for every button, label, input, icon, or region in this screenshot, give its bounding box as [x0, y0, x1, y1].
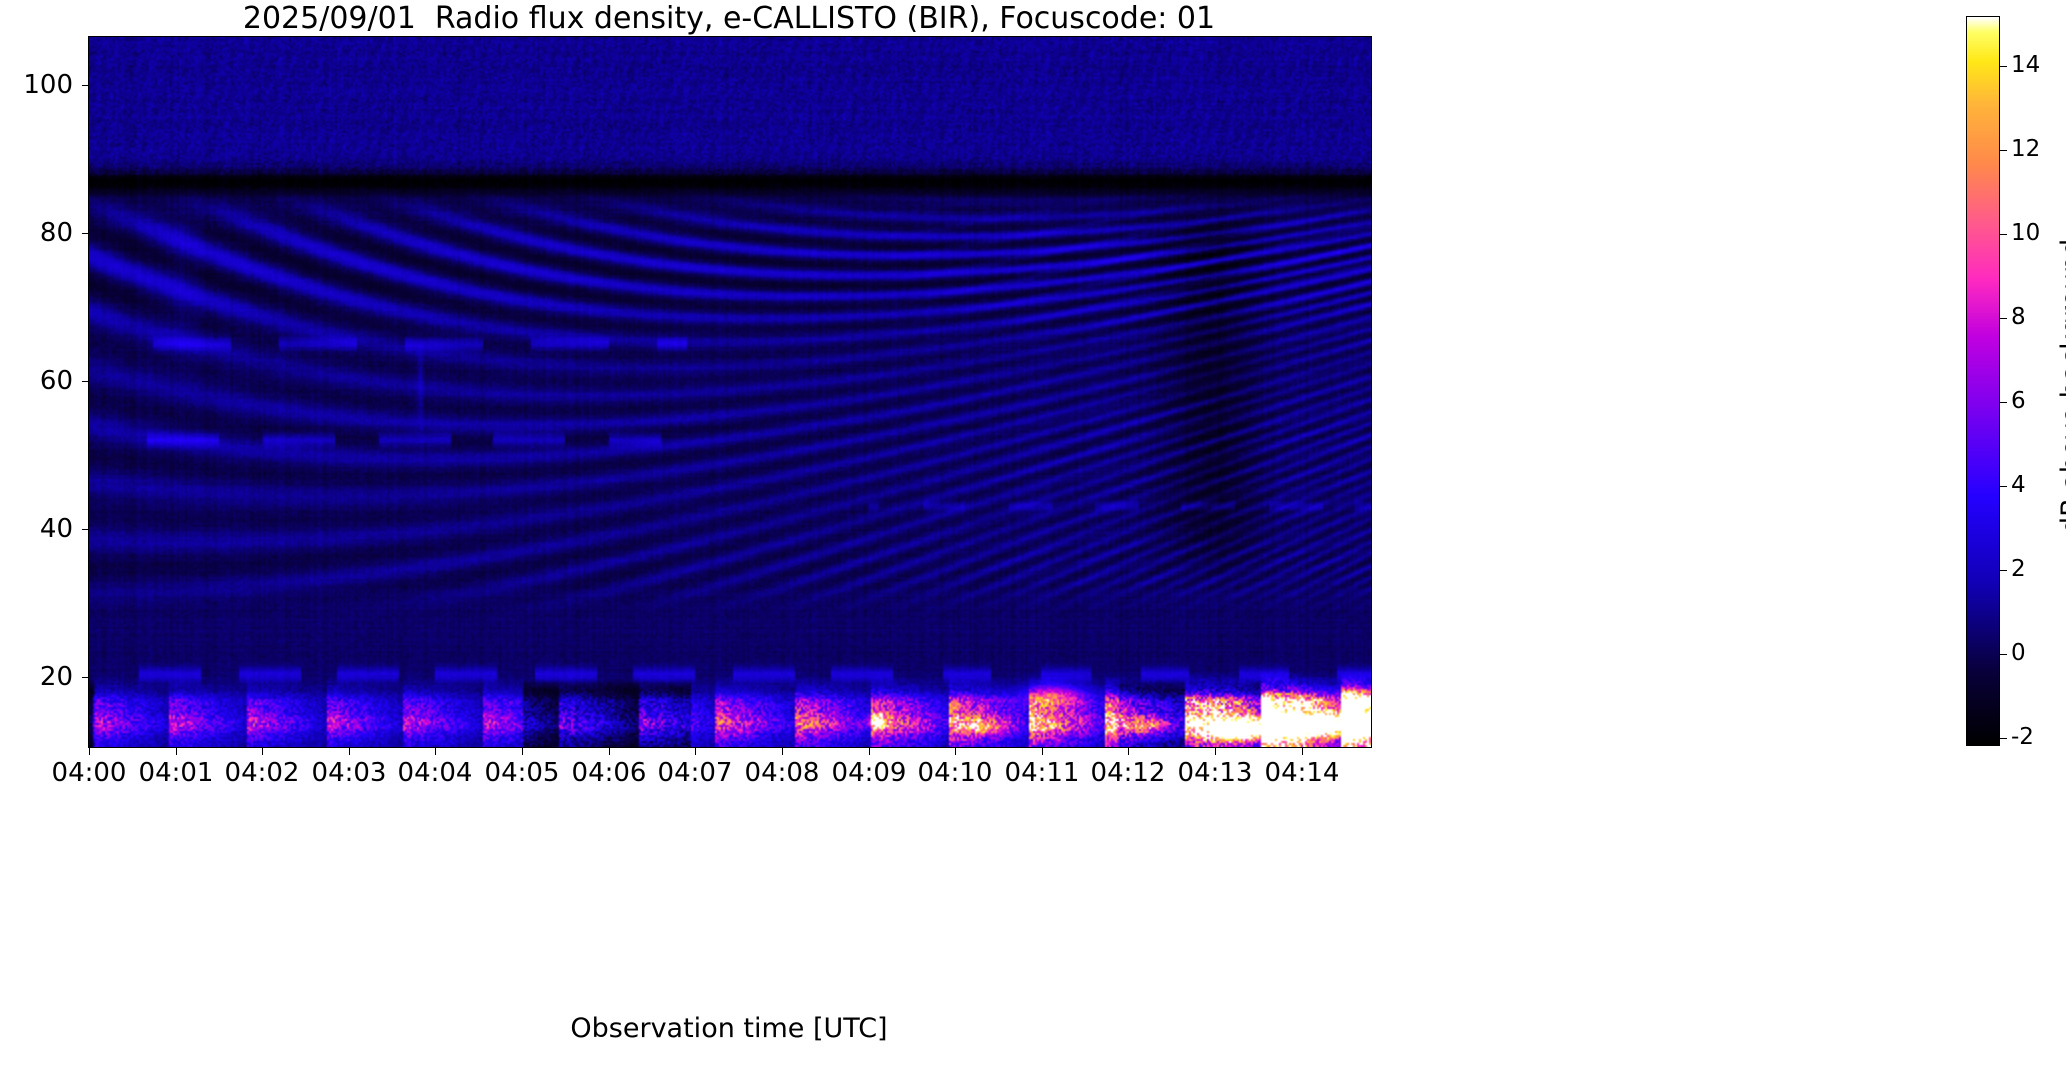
- colorbar-tick-label: 10: [2011, 222, 2040, 245]
- x-tick-mark: [869, 748, 870, 755]
- colorbar-tick-label: -2: [2011, 726, 2034, 749]
- figure-title: 2025/09/01 Radio flux density, e-CALLIST…: [88, 2, 1370, 36]
- y-tick-mark: [82, 233, 89, 234]
- colorbar-gradient: [1966, 16, 2000, 746]
- y-tick-mark: [82, 381, 89, 382]
- colorbar-tick-mark: [2000, 486, 2007, 487]
- x-tick-mark: [1215, 748, 1216, 755]
- colorbar-tick-mark: [2000, 402, 2007, 403]
- colorbar-tick-label: 8: [2011, 306, 2026, 329]
- y-tick-label: 20: [0, 664, 73, 690]
- spectrogram-image: [89, 37, 1371, 747]
- figure-canvas: 2025/09/01 Radio flux density, e-CALLIST…: [0, 0, 2066, 1067]
- x-tick-mark: [1128, 748, 1129, 755]
- colorbar-tick-mark: [2000, 150, 2007, 151]
- colorbar-tick-mark: [2000, 738, 2007, 739]
- y-tick-label: 60: [0, 368, 73, 394]
- y-tick-label: 100: [0, 72, 73, 98]
- y-tick-mark: [82, 85, 89, 86]
- colorbar-tick-mark: [2000, 654, 2007, 655]
- x-tick-label: 04:14: [1222, 760, 1382, 786]
- x-tick-mark: [176, 748, 177, 755]
- x-tick-mark: [695, 748, 696, 755]
- x-tick-mark: [1302, 748, 1303, 755]
- x-tick-mark: [262, 748, 263, 755]
- colorbar-tick-label: 6: [2011, 390, 2026, 413]
- x-tick-mark: [89, 748, 90, 755]
- x-tick-mark: [609, 748, 610, 755]
- colorbar-tick-label: 0: [2011, 642, 2026, 665]
- y-tick-label: 40: [0, 516, 73, 542]
- colorbar-label: dB above background: [2058, 239, 2066, 534]
- x-axis-label: Observation time [UTC]: [88, 1014, 1370, 1044]
- spectrogram-axes[interactable]: [88, 36, 1372, 748]
- x-tick-mark: [782, 748, 783, 755]
- colorbar-tick-label: 12: [2011, 138, 2040, 161]
- x-tick-mark: [349, 748, 350, 755]
- colorbar-tick-label: 4: [2011, 474, 2026, 497]
- colorbar-tick-mark: [2000, 234, 2007, 235]
- colorbar-tick-mark: [2000, 66, 2007, 67]
- colorbar[interactable]: [1966, 16, 2000, 746]
- x-tick-mark: [522, 748, 523, 755]
- x-tick-mark: [1042, 748, 1043, 755]
- colorbar-tick-label: 2: [2011, 558, 2026, 581]
- y-tick-mark: [82, 677, 89, 678]
- y-tick-mark: [82, 529, 89, 530]
- y-tick-label: 80: [0, 220, 73, 246]
- colorbar-tick-mark: [2000, 570, 2007, 571]
- x-tick-mark: [435, 748, 436, 755]
- x-tick-mark: [955, 748, 956, 755]
- colorbar-tick-label: 14: [2011, 54, 2040, 77]
- colorbar-tick-mark: [2000, 318, 2007, 319]
